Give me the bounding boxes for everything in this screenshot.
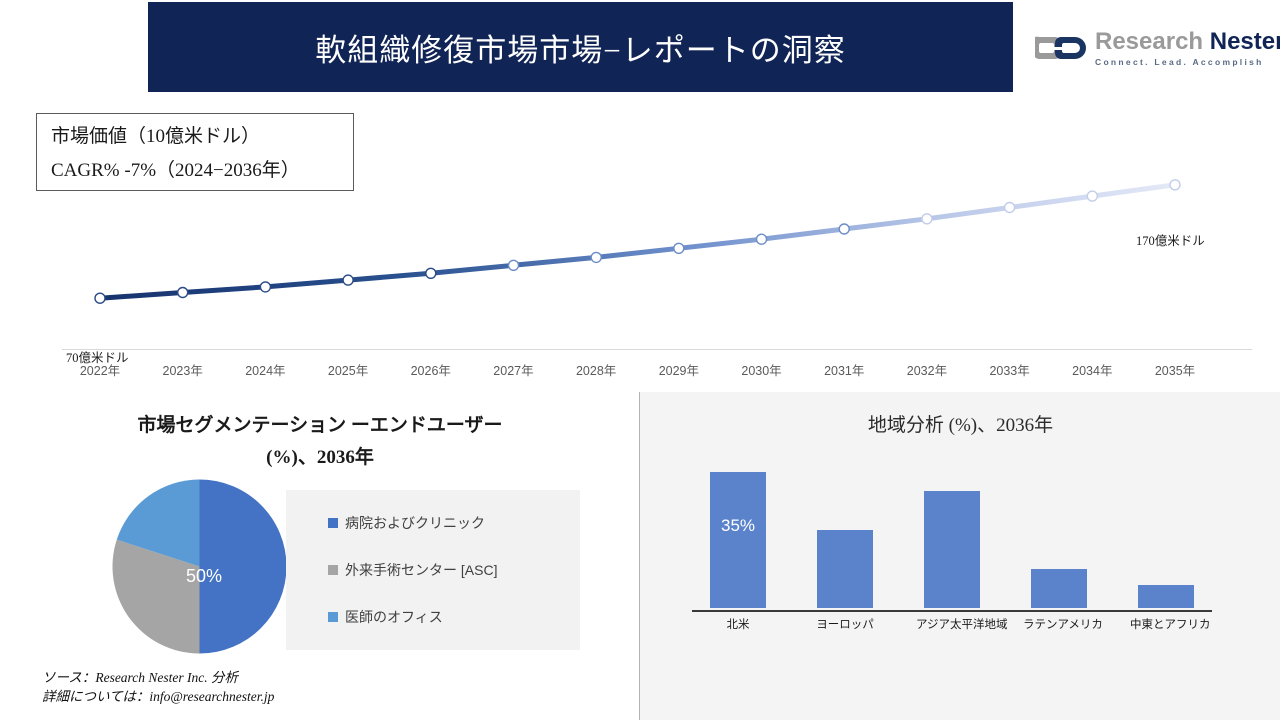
pie-slice-value-label: 50% (186, 566, 222, 587)
line-chart-x-tick: 2034年 (1072, 360, 1112, 379)
bar-chart-x-axis-labels: 北米ヨーロッパアジア太平洋地域ラテンアメリカ中東とアフリカ (702, 616, 1202, 632)
bar-chart-x-tick: 中東とアフリカ (1130, 616, 1202, 632)
line-chart-marker (260, 282, 270, 292)
line-chart-x-axis-labels: 2022年2023年2024年2025年2026年2027年2028年2029年… (62, 360, 1252, 382)
line-chart-x-tick: 2033年 (989, 360, 1029, 379)
line-chart-marker (757, 234, 767, 244)
logo-text: Research Nester Connect. Lead. Accomplis… (1095, 30, 1280, 67)
bar-value-label: 35% (721, 516, 755, 536)
bar-slot (809, 452, 881, 608)
line-chart-x-tick: 2032年 (907, 360, 947, 379)
legend-swatch-icon (328, 518, 338, 528)
bar-chart-title: 地域分析 (%)、2036年 (640, 410, 1280, 437)
header-banner: 軟組織修復市場市場−レポートの洞察 (148, 2, 1013, 92)
market-value-line-chart: 70億米ドル 170億米ドル (0, 100, 1280, 390)
line-chart-marker (178, 288, 188, 298)
line-chart-x-tick: 2024年 (245, 360, 285, 379)
line-chart-marker (95, 293, 105, 303)
legend-item[interactable]: 病院およびクリニック (328, 513, 580, 533)
line-chart-marker (1005, 203, 1015, 213)
bar[interactable] (817, 530, 873, 608)
legend-item[interactable]: 医師のオフィス (328, 607, 580, 627)
bar-chart-x-tick: 北米 (702, 616, 774, 632)
pie-chart-title-line-2: (%)、2036年 (60, 442, 580, 474)
bar-chart-x-tick: ヨーロッパ (809, 616, 881, 632)
legend-swatch-icon (328, 612, 338, 622)
bar-chart-x-tick: アジア太平洋地域 (916, 616, 988, 632)
legend-item-label: 医師のオフィス (345, 607, 443, 627)
bar[interactable]: 35% (710, 472, 766, 609)
line-chart-marker (922, 214, 932, 224)
regional-analysis-panel: 地域分析 (%)、2036年 35% 北米ヨーロッパアジア太平洋地域ラテンアメリ… (639, 392, 1280, 720)
logo-word-nester: Nester (1210, 28, 1280, 55)
line-chart-x-tick: 2023年 (163, 360, 203, 379)
line-chart-x-tick: 2035年 (1155, 360, 1195, 379)
legend-item-label: 外来手術センター [ASC] (345, 560, 497, 580)
line-chart-x-tick: 2028年 (576, 360, 616, 379)
research-nester-logo-icon (1035, 31, 1087, 65)
pie-chart-title: 市場セグメンテーション ーエンドユーザー (%)、2036年 (60, 410, 580, 474)
line-chart-marker (839, 224, 849, 234)
line-chart-svg (0, 100, 1280, 390)
source-line-2: 詳細については：info@researchnester.jp (42, 687, 274, 706)
bar-slot (1130, 452, 1202, 608)
line-chart-marker (1087, 191, 1097, 201)
legend-swatch-icon (328, 565, 338, 575)
bar-chart-bars: 35% (702, 452, 1202, 608)
line-chart-marker (343, 275, 353, 285)
legend-item[interactable]: 外来手術センター [ASC] (328, 560, 580, 580)
logo-word-research: Research (1095, 28, 1203, 55)
line-chart-x-tick: 2027年 (493, 360, 533, 379)
bar-slot (916, 452, 988, 608)
bar[interactable] (1138, 585, 1194, 608)
legend-item-label: 病院およびクリニック (345, 513, 485, 533)
source-note: ソース：Research Nester Inc. 分析 詳細については：info… (42, 668, 274, 706)
line-chart-x-tick: 2022年 (80, 360, 120, 379)
bar[interactable] (924, 491, 980, 608)
pie-chart-legend: 病院およびクリニック外来手術センター [ASC]医師のオフィス (286, 490, 580, 650)
brand-logo: Research Nester Connect. Lead. Accomplis… (1035, 22, 1265, 74)
logo-tagline: Connect. Lead. Accomplish (1095, 58, 1280, 67)
bar-slot: 35% (702, 452, 774, 608)
line-chart-marker (674, 243, 684, 253)
line-chart-x-tick: 2031年 (824, 360, 864, 379)
bar-chart-axis (692, 610, 1212, 612)
line-chart-marker (509, 260, 519, 270)
source-line-1: ソース：Research Nester Inc. 分析 (42, 668, 274, 687)
bar-slot (1023, 452, 1095, 608)
line-chart-x-tick: 2029年 (659, 360, 699, 379)
page-title: 軟組織修復市場市場−レポートの洞察 (315, 25, 845, 70)
line-chart-x-tick: 2025年 (328, 360, 368, 379)
line-chart-marker (591, 252, 601, 262)
bar-chart-x-tick: ラテンアメリカ (1023, 616, 1095, 632)
line-chart-marker (1170, 180, 1180, 190)
line-chart-x-tick: 2030年 (741, 360, 781, 379)
line-chart-x-tick: 2026年 (411, 360, 451, 379)
pie-chart-title-line-1: 市場セグメンテーション ーエンドユーザー (60, 410, 580, 442)
line-chart-axis (62, 349, 1252, 350)
line-end-annotation: 170億米ドル (1136, 230, 1205, 249)
bar[interactable] (1031, 569, 1087, 608)
line-chart-marker (426, 268, 436, 278)
